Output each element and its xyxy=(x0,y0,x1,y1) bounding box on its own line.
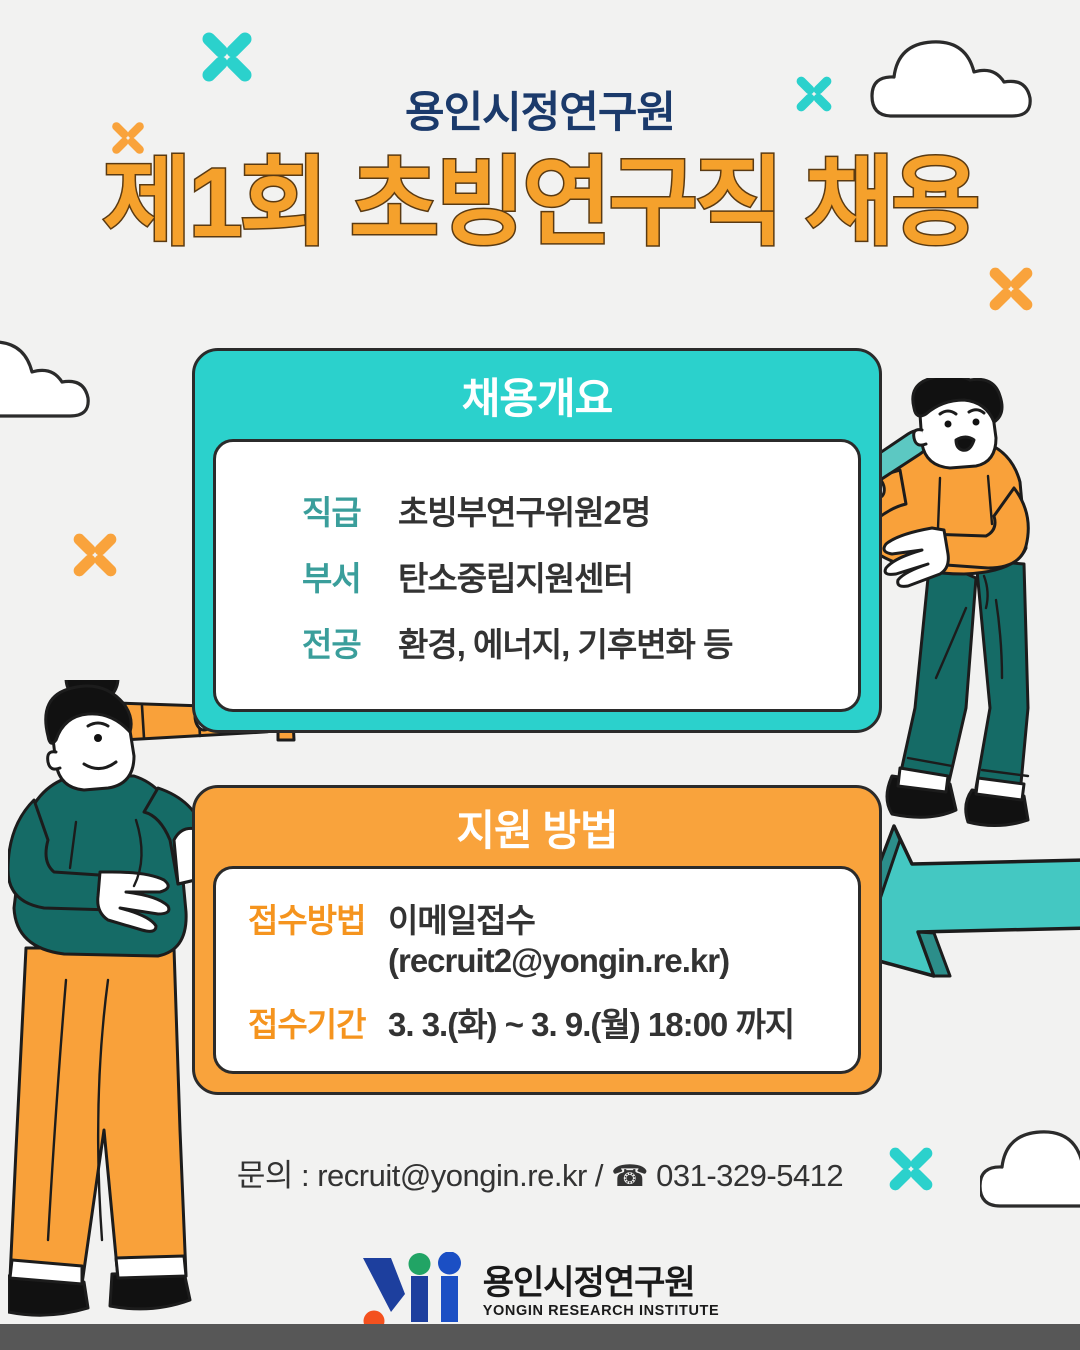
row-value-position: 초빙부연구위원2명 xyxy=(398,486,650,534)
page-title: 제1회 초빙연구직 채용 xyxy=(0,150,1080,257)
contact-separator: / xyxy=(587,1158,611,1193)
contact-phone: 031-329-5412 xyxy=(656,1158,843,1193)
row-value-department: 탄소중립지원센터 xyxy=(398,552,633,600)
cloud-left xyxy=(0,328,120,428)
logo-name-en: YONGIN RESEARCH INSTITUTE xyxy=(483,1304,720,1319)
row-label-apply-period: 접수기간 xyxy=(248,998,378,1046)
row-label-position: 직급 xyxy=(302,486,380,534)
row-label-apply-method: 접수방법 xyxy=(248,894,378,942)
apply-method-body: 접수방법 이메일접수(recruit2@yongin.re.kr) 접수기간 3… xyxy=(213,866,861,1074)
bottom-band xyxy=(0,1324,1080,1350)
table-row: 전공 환경, 에너지, 기후변화 등 xyxy=(216,618,858,666)
institute-logo: 용인시정연구원 YONGIN RESEARCH INSTITUTE xyxy=(0,1252,1080,1332)
telephone-icon: ☎ xyxy=(611,1160,648,1193)
table-row: 직급 초빙부연구위원2명 xyxy=(216,486,858,534)
row-value-apply-period: 3. 3.(화) ~ 3. 9.(월) 18:00 까지 xyxy=(388,998,794,1046)
poster-canvas: 용인시정연구원 제1회 초빙연구직 채용 xyxy=(0,0,1080,1350)
table-row: 접수기간 3. 3.(화) ~ 3. 9.(월) 18:00 까지 xyxy=(216,998,858,1046)
organization-name: 용인시정연구원 xyxy=(0,78,1080,140)
table-row: 접수방법 이메일접수(recruit2@yongin.re.kr) xyxy=(216,894,858,980)
contact-prefix: 문의 : xyxy=(237,1158,317,1193)
sparkle-right-mid-icon xyxy=(984,262,1038,316)
table-row: 부서 탄소중립지원센터 xyxy=(216,552,858,600)
row-value-major: 환경, 에너지, 기후변화 등 xyxy=(398,618,732,666)
recruit-overview-card: 채용개요 직급 초빙부연구위원2명 부서 탄소중립지원센터 전공 환경, 에너지… xyxy=(192,348,882,733)
row-label-major: 전공 xyxy=(302,618,380,666)
apply-method-card: 지원 방법 접수방법 이메일접수(recruit2@yongin.re.kr) … xyxy=(192,785,882,1095)
recruit-overview-heading: 채용개요 xyxy=(195,351,879,439)
row-value-apply-method: 이메일접수(recruit2@yongin.re.kr) xyxy=(388,894,858,980)
yri-logo-mark-icon xyxy=(361,1252,467,1332)
sparkle-left-mid-icon xyxy=(68,528,122,582)
contact-email: recruit@yongin.re.kr xyxy=(317,1158,587,1193)
recruit-overview-body: 직급 초빙부연구위원2명 부서 탄소중립지원센터 전공 환경, 에너지, 기후변… xyxy=(213,439,861,712)
apply-method-heading: 지원 방법 xyxy=(195,788,879,866)
contact-line: 문의 : recruit@yongin.re.kr / ☎ 031-329-54… xyxy=(0,1150,1080,1195)
row-label-department: 부서 xyxy=(302,552,380,600)
logo-name-kr: 용인시정연구원 xyxy=(483,1266,720,1300)
